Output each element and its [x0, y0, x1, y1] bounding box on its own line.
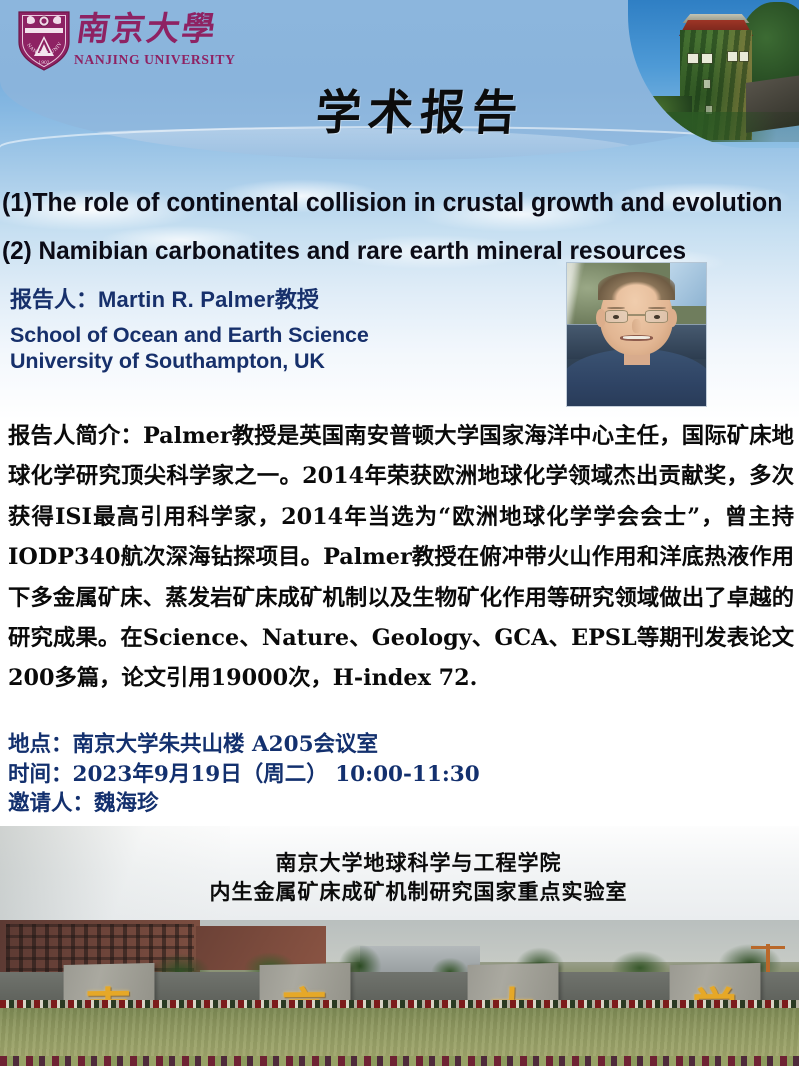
building-window: [688, 54, 698, 63]
speaker-affiliation: School of Ocean and Earth Science Univer…: [10, 322, 570, 375]
biography-text: Palmer教授是英国南安普顿大学国家海洋中心主任，国际矿床地球化学研究顶尖科学…: [8, 423, 794, 691]
nanjing-university-campus-gate-photo: 南 京 大 学: [0, 920, 799, 1066]
eyebrow-right: [648, 307, 666, 310]
university-name-en: NANJING UNIVERSITY: [74, 52, 230, 68]
svg-text:南京大學: 南京大學: [76, 9, 220, 48]
venue-row: 地点：南京大学朱共山楼 A205会议室: [8, 730, 608, 760]
host-row: 邀请人：魏海珍: [8, 789, 608, 819]
host-value: 魏海珍: [94, 791, 159, 816]
speaker-info: 报告人：Martin R. Palmer教授 School of Ocean a…: [10, 285, 570, 375]
teeth: [623, 336, 649, 339]
hair: [598, 272, 676, 301]
speaker-label: 报告人：: [10, 287, 98, 313]
time-label: 时间：: [8, 762, 73, 787]
foreground-flower-bed: [0, 1056, 799, 1066]
event-logistics: 地点：南京大学朱共山楼 A205会议室 时间：2023年9月19日（周二） 10…: [8, 730, 608, 819]
svg-text:1902: 1902: [38, 61, 49, 66]
talk-title-2: (2) Namibian carbonatites and rare earth…: [0, 238, 779, 264]
organizer-line-2: 内生金属矿床成矿机制研究国家重点实验室: [38, 877, 799, 906]
building-window: [702, 54, 712, 63]
nanjing-university-crest-icon: 1902 NANJING UNIVERSITY: [16, 8, 72, 72]
venue-label: 地点：: [8, 732, 73, 757]
talk-title-1: (1)The role of continental collision in …: [0, 190, 779, 217]
biography-label: 报告人简介：: [8, 423, 143, 449]
nose: [632, 319, 642, 333]
page-title: 学术报告: [0, 74, 799, 143]
university-logo: 1902 NANJING UNIVERSITY 南京大學 NANJING UNI…: [14, 8, 229, 74]
time-value: 2023年9月19日（周二） 10:00-11:30: [73, 762, 480, 787]
speaker-biography: 报告人简介：Palmer教授是英国南安普顿大学国家海洋中心主任，国际矿床地球化学…: [8, 416, 794, 699]
seminar-poster: 1902 NANJING UNIVERSITY 南京大學 NANJING UNI…: [0, 0, 799, 1066]
talk-title-list: (1)The role of continental collision in …: [0, 190, 799, 264]
eye-left: [613, 315, 619, 319]
time-row: 时间：2023年9月19日（周二） 10:00-11:30: [8, 760, 608, 790]
building-window: [728, 52, 737, 61]
eye-right: [654, 315, 660, 319]
ear-right: [667, 309, 677, 328]
speaker-portrait-photo: [567, 263, 706, 406]
speaker-name: Martin R. Palmer: [98, 287, 275, 312]
host-label: 邀请人：: [8, 791, 94, 816]
university-name-cn: 南京大學: [76, 6, 228, 50]
organizer-line-1: 南京大学地球科学与工程学院: [38, 848, 799, 877]
speaker-academic-title: 教授: [275, 287, 319, 313]
venue-value: 南京大学朱共山楼 A205会议室: [73, 732, 379, 757]
building-window: [740, 52, 748, 61]
affiliation-line-2: University of Southampton, UK: [10, 348, 570, 375]
portrait-sky: [670, 263, 706, 306]
speaker-name-line: 报告人：Martin R. Palmer教授: [10, 285, 570, 316]
eyeglasses-bridge: [628, 314, 645, 315]
organizer-info: 南京大学地球科学与工程学院 内生金属矿床成矿机制研究国家重点实验室: [0, 848, 799, 906]
affiliation-line-1: School of Ocean and Earth Science: [10, 322, 570, 349]
